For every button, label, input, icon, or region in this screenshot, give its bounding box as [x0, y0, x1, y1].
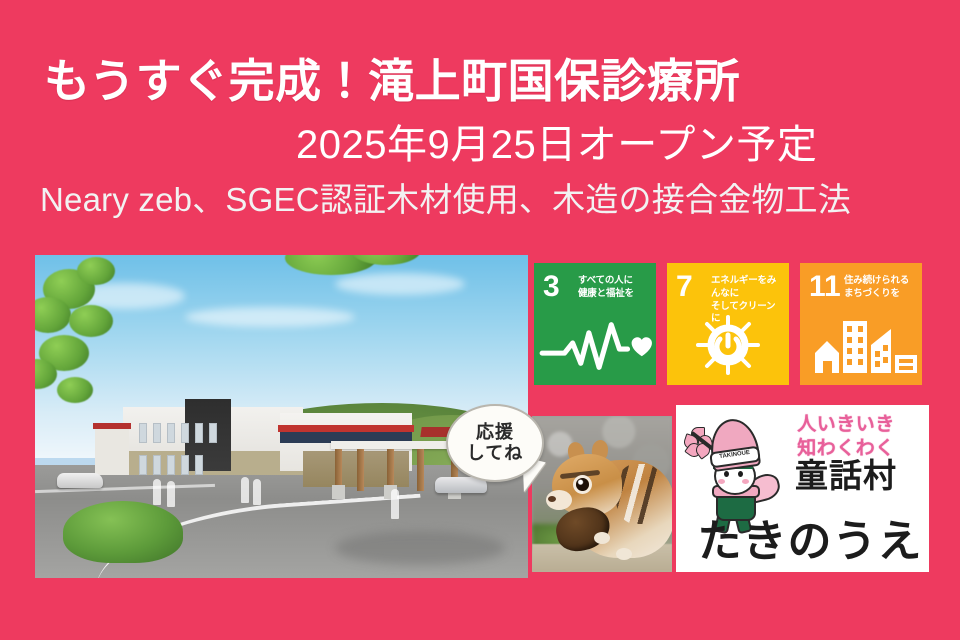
window	[195, 423, 203, 443]
heartbeat-heart-icon	[534, 313, 656, 377]
subtitle-features: Neary zeb、SGEC認証木材使用、木造の接合金物工法	[40, 183, 851, 216]
window	[209, 423, 217, 443]
speech-line2: してね	[467, 443, 523, 464]
sdg-number: 11	[809, 272, 841, 302]
chipmunk-paw	[616, 548, 632, 560]
person-figure	[167, 481, 175, 507]
sdg-icon-11: 11 住み続けられる まちづくりを	[800, 263, 922, 385]
cloud	[185, 307, 355, 327]
sdg-caption-line2: 健康と福祉を	[578, 288, 650, 301]
column-base	[332, 485, 345, 499]
sdg-caption-line1: エネルギーをみんなに	[711, 275, 783, 301]
sun-power-icon	[667, 313, 789, 377]
window	[181, 455, 189, 475]
chipmunk-nose	[548, 496, 556, 502]
speech-bubble-text: 応援 してね	[467, 422, 523, 464]
building-red-roof-accent	[278, 425, 414, 432]
window	[195, 455, 203, 475]
sdg-caption: 住み続けられる まちづくりを	[844, 275, 916, 301]
sdg-caption: すべての人に 健康と福祉を	[578, 275, 650, 301]
mascot-eye	[738, 471, 743, 477]
sdg-number: 3	[543, 272, 560, 302]
chipmunk-eye	[576, 478, 589, 491]
person-figure	[391, 489, 399, 519]
sdg-number: 7	[676, 272, 693, 302]
poster-canvas: もうすぐ完成！滝上町国保診療所 2025年9月25日オープン予定 Neary z…	[0, 0, 960, 640]
mascot-cheek	[742, 479, 749, 484]
chipmunk-paw	[594, 532, 610, 544]
speech-bubble: 応援 してね	[446, 404, 544, 482]
sdg-caption-line1: すべての人に	[578, 275, 650, 288]
opening-date-title: 2025年9月25日オープン予定	[296, 125, 817, 165]
wood-column	[417, 449, 424, 491]
sdg-icon-row: 3 すべての人に 健康と福祉を 7 エネルギーをみんなに そしてクリーンに	[534, 263, 922, 385]
sdg-icon-3: 3 すべての人に 健康と福祉を	[534, 263, 656, 385]
town-logo: TAKINOUE 人いきいき 知わくわく 童話村 たきのうえ	[676, 405, 929, 572]
parked-car	[57, 473, 103, 488]
speech-line1: 応援	[467, 422, 523, 443]
mascot-illustration: TAKINOUE	[686, 419, 778, 523]
logo-town-name: たきのうえ	[692, 520, 928, 564]
person-figure	[241, 477, 249, 503]
cityscape-icon	[800, 313, 922, 377]
chipmunk-stripes	[616, 464, 664, 524]
mascot-cheek	[718, 479, 725, 484]
person-figure	[153, 479, 161, 505]
foreground-tree	[35, 255, 175, 461]
mascot-eye	[724, 471, 729, 477]
logo-slogan-line1: 人いきいき	[771, 413, 921, 437]
logo-title: 童話村	[773, 459, 919, 492]
person-figure	[253, 479, 261, 505]
sdg-caption-line2: まちづくりを	[844, 288, 916, 301]
chipmunk-photo	[532, 416, 672, 572]
sdg-icon-7: 7 エネルギーをみんなに そしてクリーンに	[667, 263, 789, 385]
clinic-rendering-image	[35, 255, 528, 578]
sdg-caption-line1: 住み続けられる	[844, 275, 916, 288]
logo-slogan: 人いきいき 知わくわく	[771, 413, 921, 461]
cloud	[335, 273, 465, 295]
foreground-bush	[63, 501, 183, 563]
wood-column	[357, 449, 364, 491]
page-title: もうすぐ完成！滝上町国保診療所	[44, 58, 740, 104]
window	[181, 423, 189, 443]
